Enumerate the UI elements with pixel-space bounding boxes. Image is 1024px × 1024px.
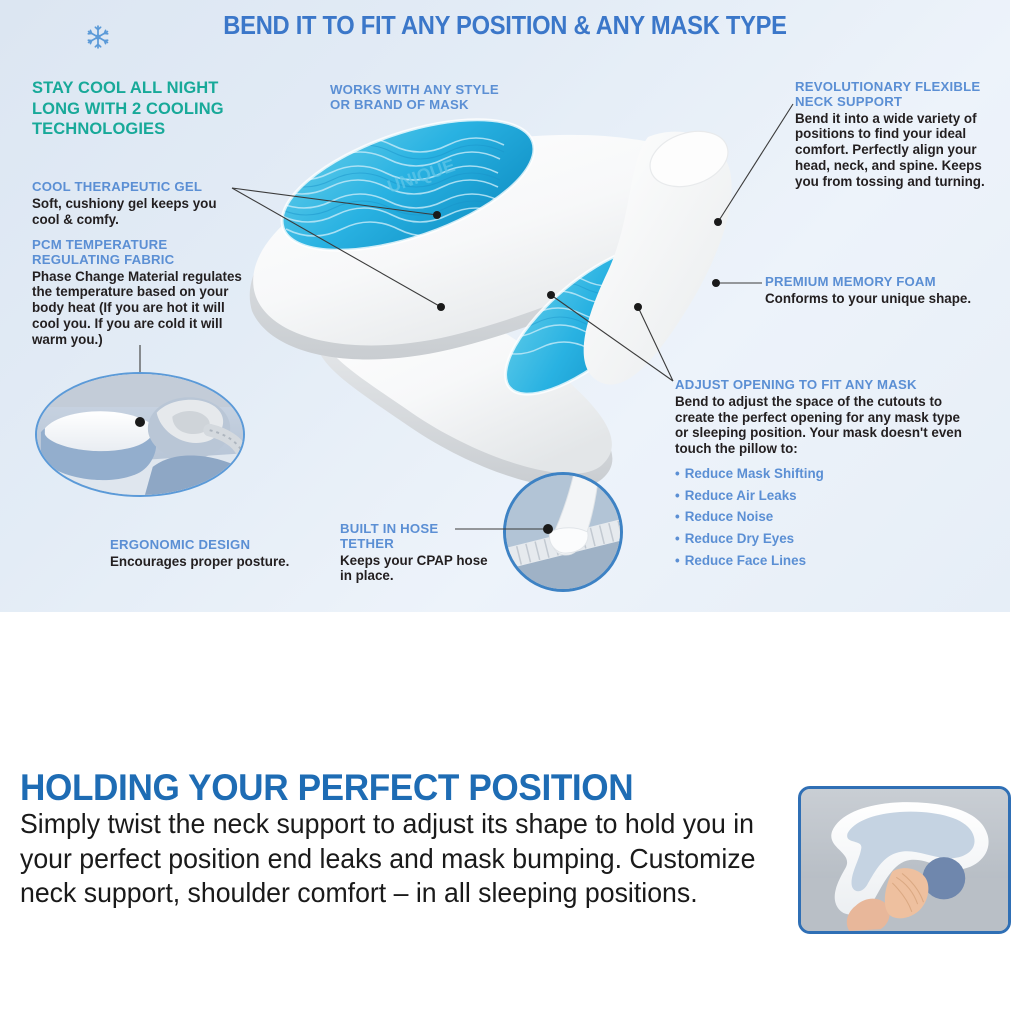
list-item: Reduce Mask Shifting bbox=[675, 463, 965, 485]
callout-pcm-fabric: PCM TEMPERATURE REGULATING FABRIC Phase … bbox=[32, 238, 242, 348]
infographic-page: BEND IT TO FIT ANY POSITION & ANY MASK T… bbox=[0, 0, 1024, 1024]
snowflake-icon bbox=[85, 24, 111, 50]
callout-adjust-opening-heading: ADJUST OPENING TO FIT ANY MASK bbox=[675, 378, 965, 393]
callout-ergonomic-design: ERGONOMIC DESIGN Encourages proper postu… bbox=[110, 538, 290, 570]
infographic-panel: BEND IT TO FIT ANY POSITION & ANY MASK T… bbox=[0, 0, 1010, 612]
callout-adjust-opening-body: Bend to adjust the space of the cutouts … bbox=[675, 394, 965, 457]
hose-tether-photo bbox=[503, 472, 623, 592]
callout-premium-memory-foam-body: Conforms to your unique shape. bbox=[765, 291, 980, 307]
callout-built-in-hose-tether-body: Keeps your CPAP hose in place. bbox=[340, 553, 490, 585]
callout-cool-therapeutic-gel: COOL THERAPEUTIC GEL Soft, cushiony gel … bbox=[32, 180, 247, 227]
callout-built-in-hose-tether-heading: BUILT IN HOSE TETHER bbox=[340, 522, 490, 552]
callout-pcm-fabric-heading: PCM TEMPERATURE REGULATING FABRIC bbox=[32, 238, 242, 268]
adjust-opening-benefit-list: Reduce Mask Shifting Reduce Air Leaks Re… bbox=[675, 463, 965, 572]
callout-stay-cool: STAY COOL ALL NIGHT LONG WITH 2 COOLING … bbox=[32, 78, 242, 140]
callout-flexible-neck-support-heading: REVOLUTIONARY FLEXIBLE NECK SUPPORT bbox=[795, 80, 1000, 110]
callout-flexible-neck-support: REVOLUTIONARY FLEXIBLE NECK SUPPORT Bend… bbox=[795, 80, 1000, 190]
callout-premium-memory-foam-heading: PREMIUM MEMORY FOAM bbox=[765, 275, 980, 290]
callout-stay-cool-heading: STAY COOL ALL NIGHT LONG WITH 2 COOLING … bbox=[32, 78, 242, 140]
callout-cool-therapeutic-gel-heading: COOL THERAPEUTIC GEL bbox=[32, 180, 247, 195]
list-item: Reduce Dry Eyes bbox=[675, 528, 965, 550]
sleeper-with-mask-photo bbox=[35, 372, 245, 497]
callout-ergonomic-design-body: Encourages proper posture. bbox=[110, 554, 290, 570]
callout-works-with-any-mask-heading: WORKS WITH ANY STYLE OR BRAND OF MASK bbox=[330, 83, 500, 113]
bottom-section-title: HOLDING YOUR PERFECT POSITION bbox=[20, 767, 761, 809]
list-item: Reduce Air Leaks bbox=[675, 485, 965, 507]
bottom-section-body: Simply twist the neck support to adjust … bbox=[20, 807, 781, 911]
callout-cool-therapeutic-gel-body: Soft, cushiony gel keeps you cool & comf… bbox=[32, 196, 247, 228]
callout-flexible-neck-support-body: Bend it into a wide variety of positions… bbox=[795, 111, 1000, 190]
callout-premium-memory-foam: PREMIUM MEMORY FOAM Conforms to your uni… bbox=[765, 275, 980, 307]
callout-works-with-any-mask: WORKS WITH ANY STYLE OR BRAND OF MASK bbox=[330, 83, 500, 113]
callout-pcm-fabric-body: Phase Change Material regulates the temp… bbox=[32, 269, 242, 348]
list-item: Reduce Noise bbox=[675, 506, 965, 528]
list-item: Reduce Face Lines bbox=[675, 550, 965, 572]
callout-ergonomic-design-heading: ERGONOMIC DESIGN bbox=[110, 538, 290, 553]
bottom-section: HOLDING YOUR PERFECT POSITION Simply twi… bbox=[0, 612, 1024, 1024]
hands-twisting-pillow-photo bbox=[798, 786, 1011, 934]
callout-built-in-hose-tether: BUILT IN HOSE TETHER Keeps your CPAP hos… bbox=[340, 522, 490, 584]
page-title: BEND IT TO FIT ANY POSITION & ANY MASK T… bbox=[35, 12, 974, 41]
callout-adjust-opening: ADJUST OPENING TO FIT ANY MASK Bend to a… bbox=[675, 378, 965, 572]
